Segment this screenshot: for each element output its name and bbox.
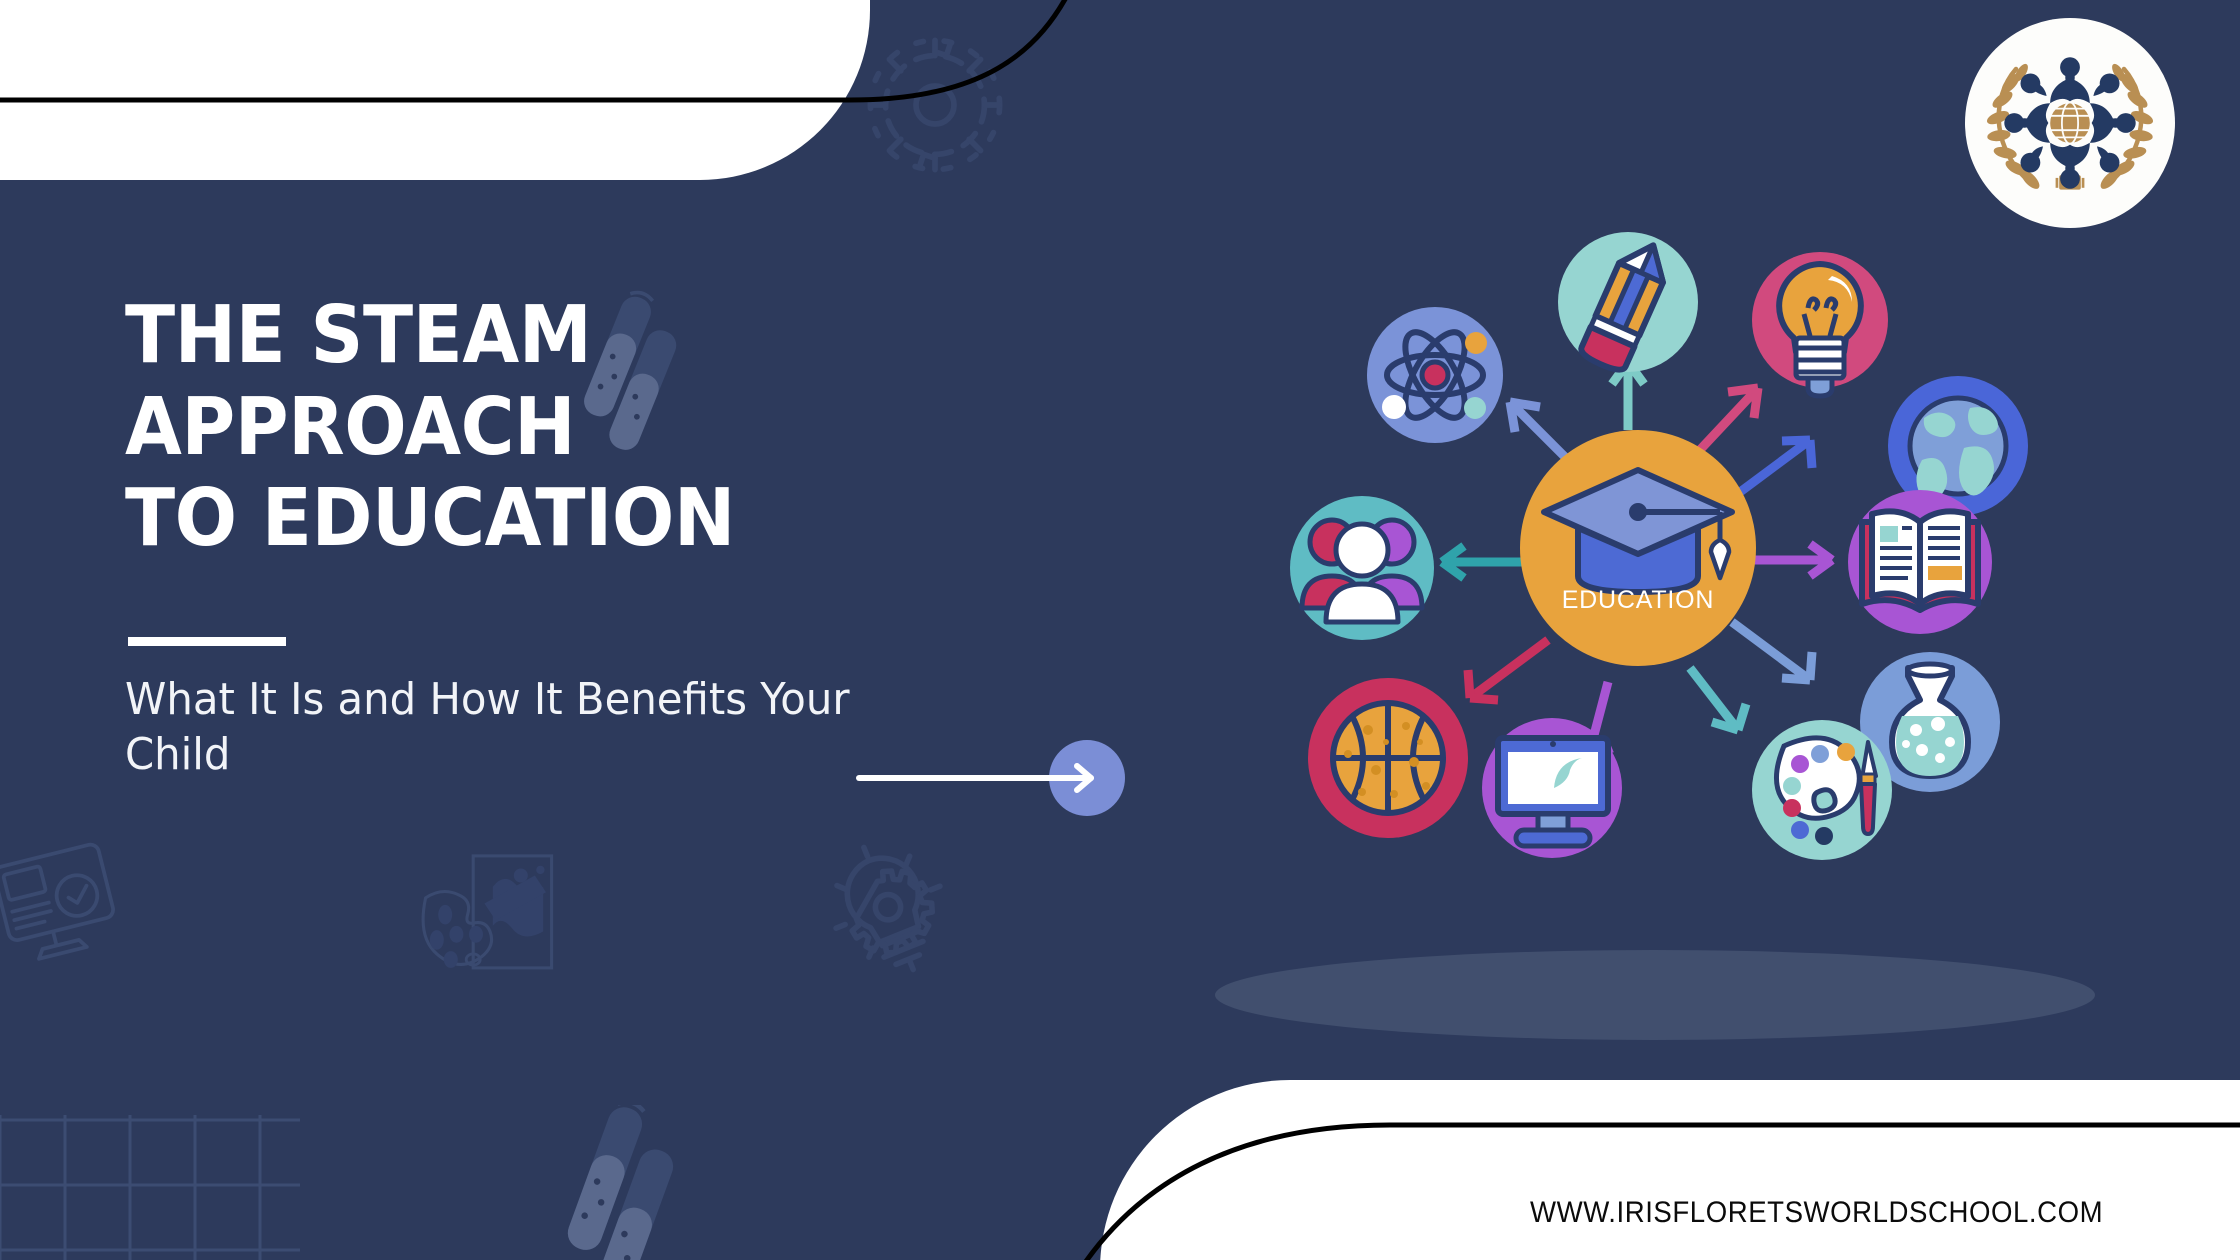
arrow-to-atom	[1510, 402, 1568, 460]
slide-canvas: THE STEAM APPROACH TO EDUCATION What It …	[0, 0, 2240, 1260]
node-book[interactable]	[1848, 490, 1992, 634]
arrow-to-basketball	[1468, 640, 1548, 700]
node-palette[interactable]	[1752, 720, 1892, 860]
node-atom[interactable]	[1367, 307, 1503, 443]
hero-text-block: THE STEAM APPROACH TO EDUCATION What It …	[125, 290, 1135, 782]
diagram-shadow	[1215, 950, 2095, 1040]
page-title: THE STEAM APPROACH TO EDUCATION	[125, 290, 1064, 565]
arrow-right-icon[interactable]	[855, 740, 1125, 816]
gear-watermark-icon	[840, 10, 1030, 200]
arrow-to-globe	[1732, 440, 1812, 498]
node-pencil[interactable]	[1558, 232, 1698, 374]
diagram-center-node: EDUCATION	[1520, 430, 1756, 666]
basketball-icon	[1333, 703, 1443, 813]
grid-watermark	[0, 1115, 430, 1260]
node-people[interactable]	[1290, 496, 1434, 640]
lightbulb-gear-watermark-icon	[818, 840, 958, 980]
arrow-to-flask	[1732, 622, 1812, 680]
arrow-to-palette	[1690, 668, 1746, 730]
node-lightbulb[interactable]	[1752, 252, 1888, 396]
palette-easel-watermark-icon	[420, 845, 560, 990]
node-monitor[interactable]	[1482, 718, 1622, 858]
title-divider	[128, 637, 286, 646]
certificate-monitor-watermark-icon	[0, 835, 140, 980]
top-left-panel	[0, 0, 870, 180]
arrow-to-lightbulb	[1698, 388, 1758, 452]
center-label: EDUCATION	[1562, 586, 1715, 614]
page-subtitle: What It Is and How It Benefits Your Chil…	[125, 672, 961, 782]
test-tubes-watermark-icon	[560, 1105, 710, 1260]
book-icon	[1862, 511, 1978, 610]
next-arrow-button[interactable]	[855, 740, 1125, 824]
bottom-right-panel	[1100, 1080, 2240, 1260]
steam-education-diagram: EDUCATION	[1180, 130, 2080, 960]
website-url[interactable]: WWW.IRISFLORETSWORLDSCHOOL.COM	[1530, 1196, 2103, 1230]
headline-line-2: TO EDUCATION	[125, 472, 735, 564]
headline-line-1: THE STEAM APPROACH	[125, 289, 591, 473]
arrow-to-book	[1748, 544, 1832, 576]
node-basketball[interactable]	[1308, 678, 1468, 838]
arrow-to-people	[1442, 546, 1528, 578]
